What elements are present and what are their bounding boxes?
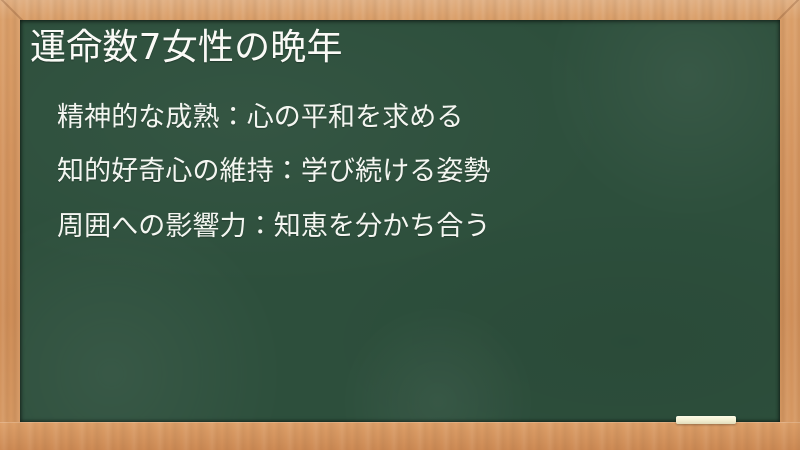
body-line-1: 精神的な成熟：心の平和を求める [57, 104, 491, 132]
slide-body-list: 精神的な成熟：心の平和を求める 知的好奇心の維持：学び続ける姿勢 周囲への影響力… [57, 104, 491, 241]
slide-title: 運命数7女性の晩年 [30, 26, 343, 70]
body-line-3: 周囲への影響力：知恵を分かち合う [57, 213, 491, 241]
slide-content: 運命数7女性の晩年 精神的な成熟：心の平和を求める 知的好奇心の維持：学び続ける… [0, 0, 800, 450]
chalkboard-slide: 運命数7女性の晩年 精神的な成熟：心の平和を求める 知的好奇心の維持：学び続ける… [0, 0, 800, 450]
body-line-2: 知的好奇心の維持：学び続ける姿勢 [57, 158, 491, 186]
chalk-stick-icon [676, 416, 736, 424]
